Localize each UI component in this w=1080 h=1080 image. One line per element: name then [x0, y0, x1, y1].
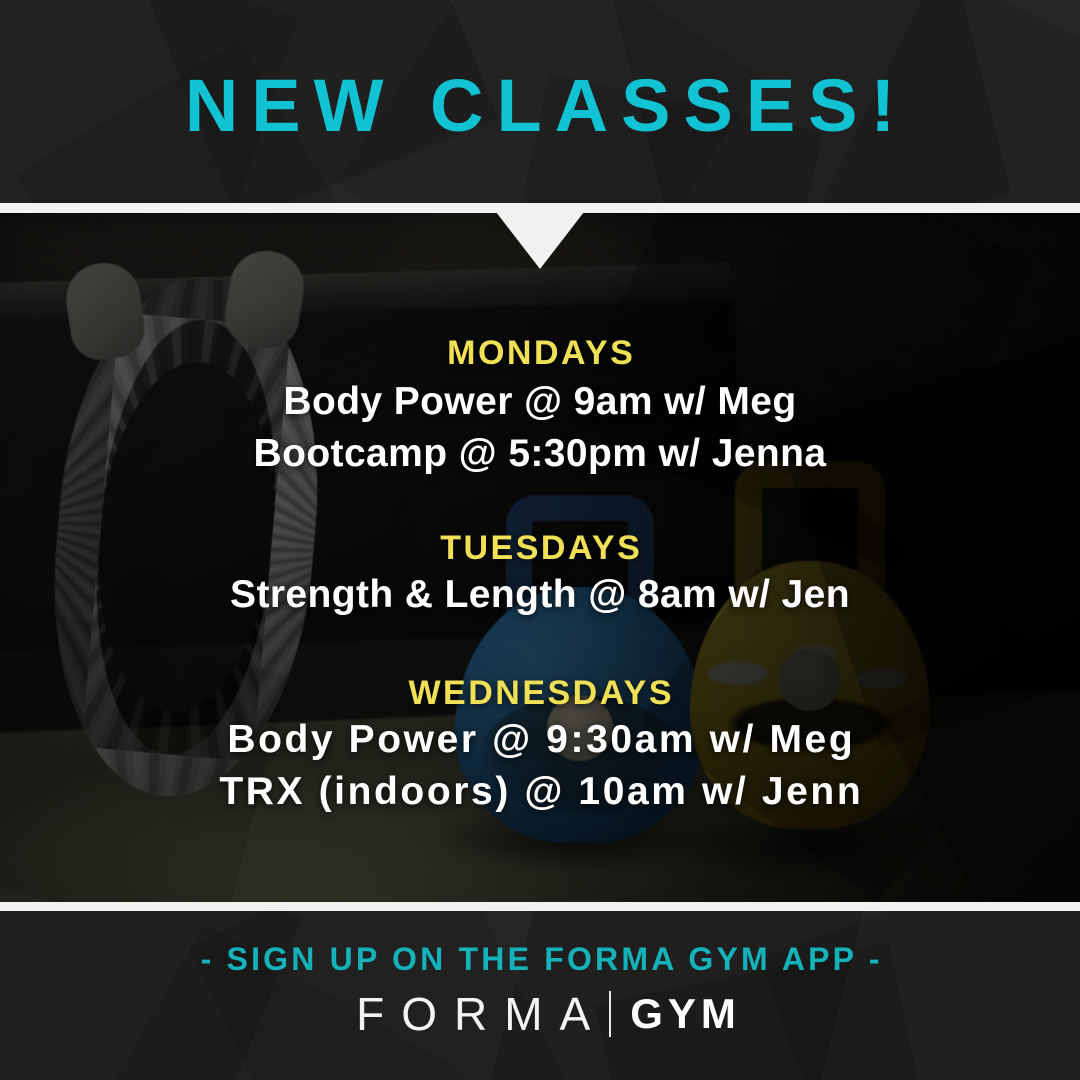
header-band: NEW CLASSES! [0, 0, 1080, 203]
triangle-down-icon [496, 212, 584, 269]
page-title: NEW CLASSES! [0, 0, 1080, 203]
day-heading: TUESDAYS [0, 530, 1080, 567]
class-line: Body Power @ 9am w/ Meg [0, 376, 1080, 428]
footer-divider-rule [0, 902, 1080, 911]
logo-divider-bar [609, 991, 611, 1037]
day-heading: WEDNESDAYS [0, 675, 1080, 712]
schedule-day-wednesdays: WEDNESDAYS Body Power @ 9:30am w/ Meg TR… [0, 675, 1080, 818]
class-line: Body Power @ 9:30am w/ Meg [0, 714, 1080, 766]
promo-poster: NEW CLASSES! [0, 0, 1080, 1080]
class-line: Strength & Length @ 8am w/ Jen [0, 569, 1080, 621]
schedule-day-tuesdays: TUESDAYS Strength & Length @ 8am w/ Jen [0, 530, 1080, 621]
footer-band: - SIGN UP ON THE FORMA GYM APP - FORMA G… [0, 911, 1080, 1080]
forma-gym-logo: FORMA GYM [0, 991, 1080, 1037]
day-heading: MONDAYS [0, 335, 1080, 372]
logo-forma-text: FORMA [339, 991, 607, 1037]
class-line: Bootcamp @ 5:30pm w/ Jenna [0, 428, 1080, 480]
schedule-day-mondays: MONDAYS Body Power @ 9am w/ Meg Bootcamp… [0, 335, 1080, 480]
class-line: TRX (indoors) @ 10am w/ Jenn [0, 766, 1080, 818]
class-schedule: MONDAYS Body Power @ 9am w/ Meg Bootcamp… [0, 213, 1080, 902]
logo-gym-text: GYM [625, 993, 741, 1035]
photo-stage: MONDAYS Body Power @ 9am w/ Meg Bootcamp… [0, 213, 1080, 902]
signup-cta-text[interactable]: - SIGN UP ON THE FORMA GYM APP - [0, 941, 1080, 978]
